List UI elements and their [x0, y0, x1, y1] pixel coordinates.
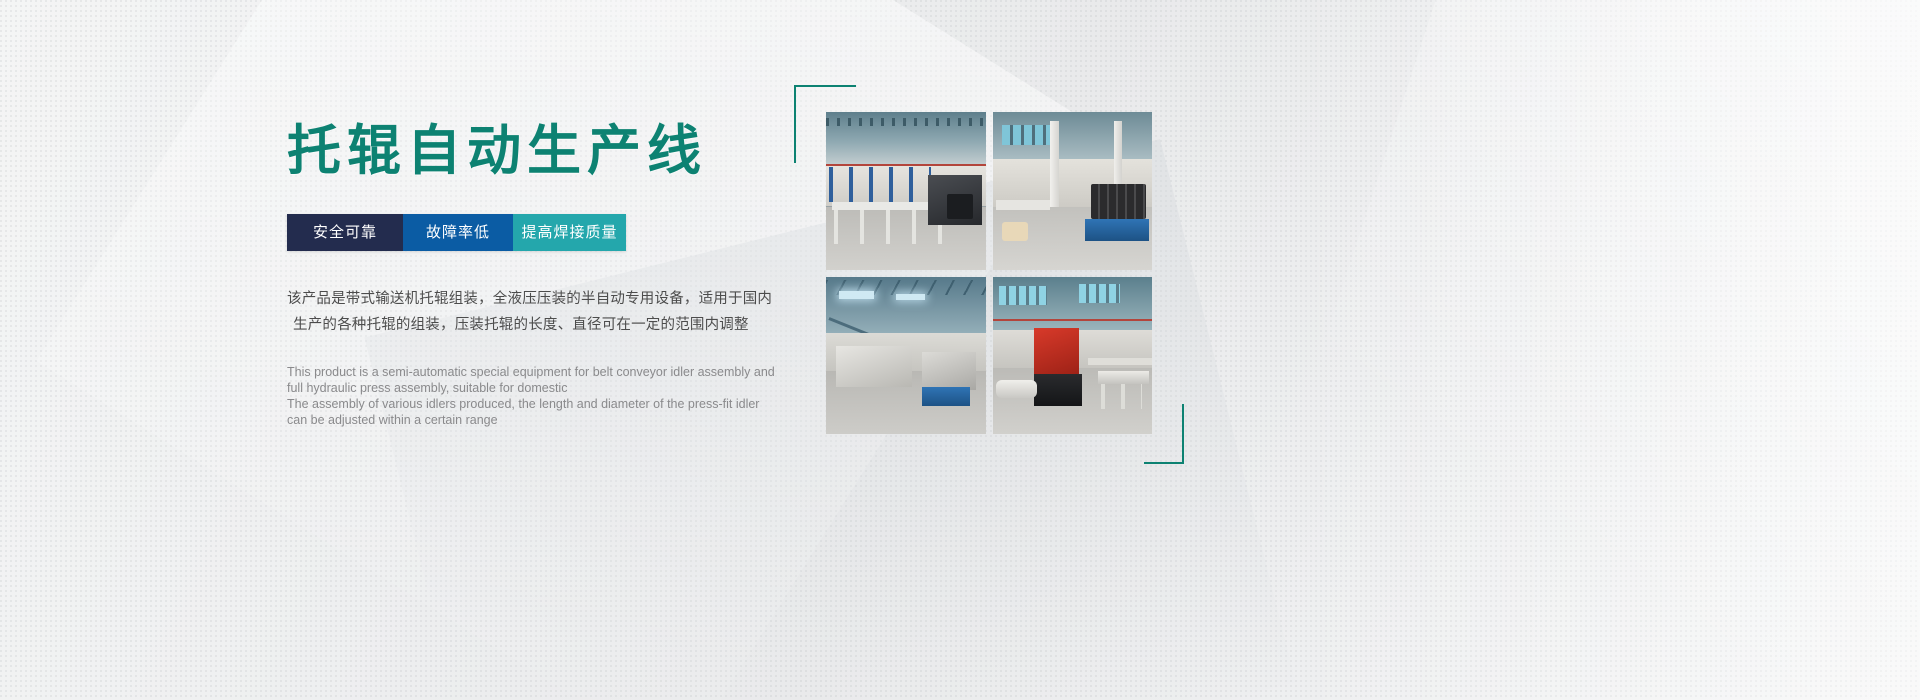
- description-chinese-line-1: 该产品是带式输送机托辊组装，全液压压装的半自动专用设备，适用于国内: [287, 286, 732, 312]
- badge-safety[interactable]: 安全可靠: [287, 214, 403, 251]
- description-english-line-1: This product is a semi-automatic special…: [287, 364, 737, 380]
- workshop-drums-photo[interactable]: [993, 112, 1153, 270]
- description-english: This product is a semi-automatic special…: [287, 364, 737, 428]
- description-english-line-3: The assembly of various idlers produced,…: [287, 396, 737, 412]
- badge-weld-quality[interactable]: 提高焊接质量: [513, 214, 626, 251]
- background-facet-c: [1230, 0, 1920, 700]
- assembly-rig-photo[interactable]: [826, 277, 986, 435]
- banner-copy-block: 托辊自动生产线 安全可靠 故障率低 提高焊接质量 该产品是带式输送机托辊组装，全…: [287, 120, 757, 428]
- description-english-line-2: full hydraulic press assembly, suitable …: [287, 380, 737, 396]
- product-banner: 托辊自动生产线 安全可靠 故障率低 提高焊接质量 该产品是带式输送机托辊组装，全…: [0, 0, 1920, 700]
- description-chinese: 该产品是带式输送机托辊组装，全液压压装的半自动专用设备，适用于国内 生产的各种托…: [287, 286, 732, 338]
- conveyor-line-photo[interactable]: [826, 112, 986, 270]
- badge-low-failure-rate[interactable]: 故障率低: [403, 214, 513, 251]
- photo-grid: [826, 112, 1152, 434]
- page-title: 托辊自动生产线: [287, 120, 757, 184]
- feature-badge-row: 安全可靠 故障率低 提高焊接质量: [287, 214, 626, 251]
- photo-gallery: [826, 112, 1152, 434]
- description-english-line-4: can be adjusted within a certain range: [287, 412, 737, 428]
- description-chinese-line-2: 生产的各种托辊的组装，压装托辊的长度、直径可在一定的范围内调整: [287, 312, 732, 338]
- red-press-machine-photo[interactable]: [993, 277, 1153, 435]
- background-facet-d: [1280, 0, 1920, 700]
